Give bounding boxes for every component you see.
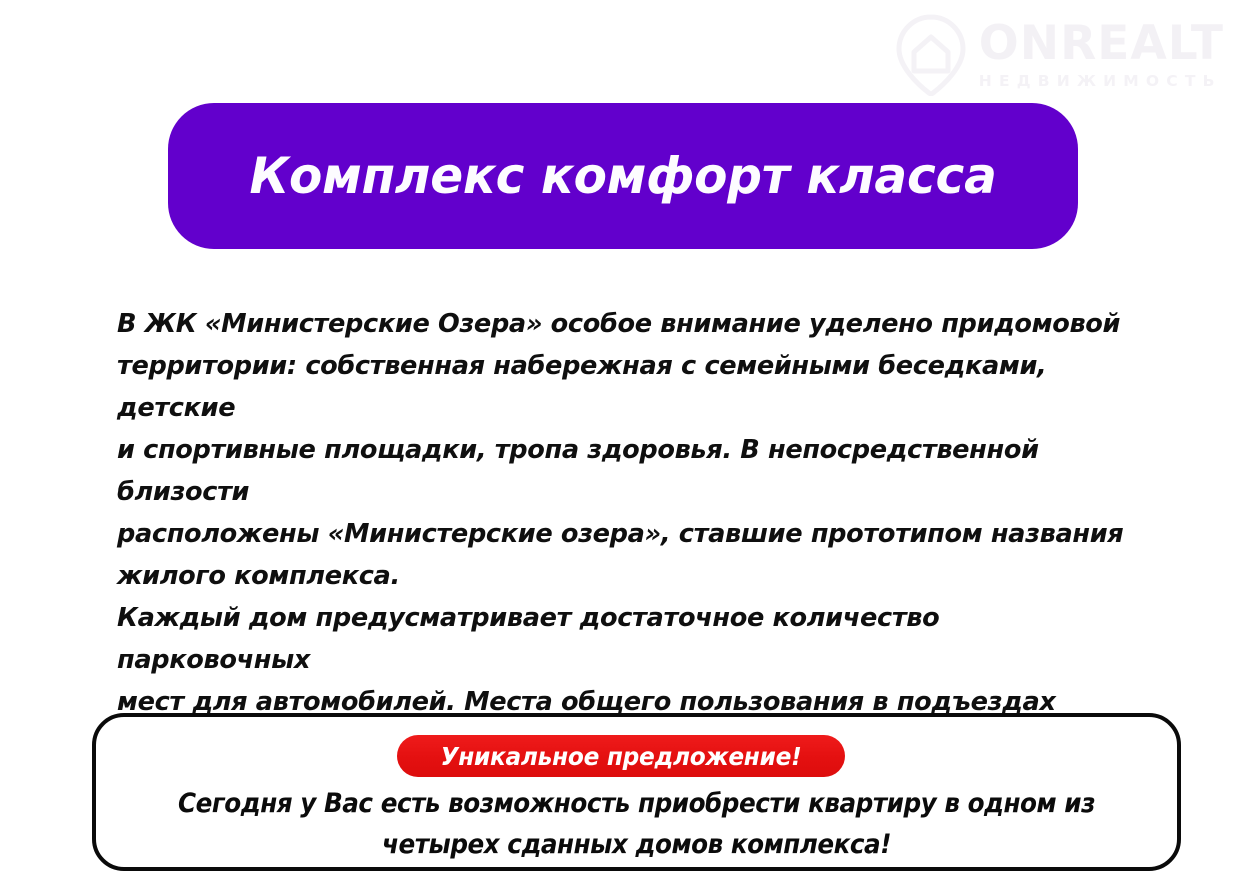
unique-offer-badge-label: Уникальное предложение! bbox=[441, 742, 802, 771]
unique-offer-badge: Уникальное предложение! bbox=[397, 735, 845, 777]
description-line: и спортивные площадки, тропа здоровья. В… bbox=[117, 429, 1127, 513]
offer-line-1: Сегодня у Вас есть возможность приобрест… bbox=[138, 783, 1136, 824]
watermark-text: ONREALT НЕДВИЖИМОСТЬ bbox=[979, 14, 1224, 90]
description-line: территории: собственная набережная с сем… bbox=[117, 345, 1127, 429]
description-text-block: В ЖК «Министерские Озера» особое внимани… bbox=[117, 303, 1127, 765]
description-line: жилого комплекса. bbox=[117, 555, 1127, 597]
hero-title: Комплекс комфорт класса bbox=[249, 147, 996, 205]
description-line: Каждый дом предусматривает достаточное к… bbox=[117, 597, 1127, 681]
house-pin-icon bbox=[893, 14, 969, 96]
description-line: В ЖК «Министерские Озера» особое внимани… bbox=[117, 303, 1127, 345]
offer-text-block: Сегодня у Вас есть возможность приобрест… bbox=[100, 783, 1173, 865]
hero-banner: Комплекс комфорт класса bbox=[168, 103, 1078, 249]
watermark-brand: ONREALT bbox=[979, 20, 1224, 67]
watermark-tagline: НЕДВИЖИМОСТЬ bbox=[979, 74, 1224, 90]
onrealt-watermark: ONREALT НЕДВИЖИМОСТЬ bbox=[893, 14, 1224, 96]
description-line: расположены «Министерские озера», ставши… bbox=[117, 513, 1127, 555]
offer-line-2: четырех сданных домов комплекса! bbox=[138, 824, 1136, 865]
